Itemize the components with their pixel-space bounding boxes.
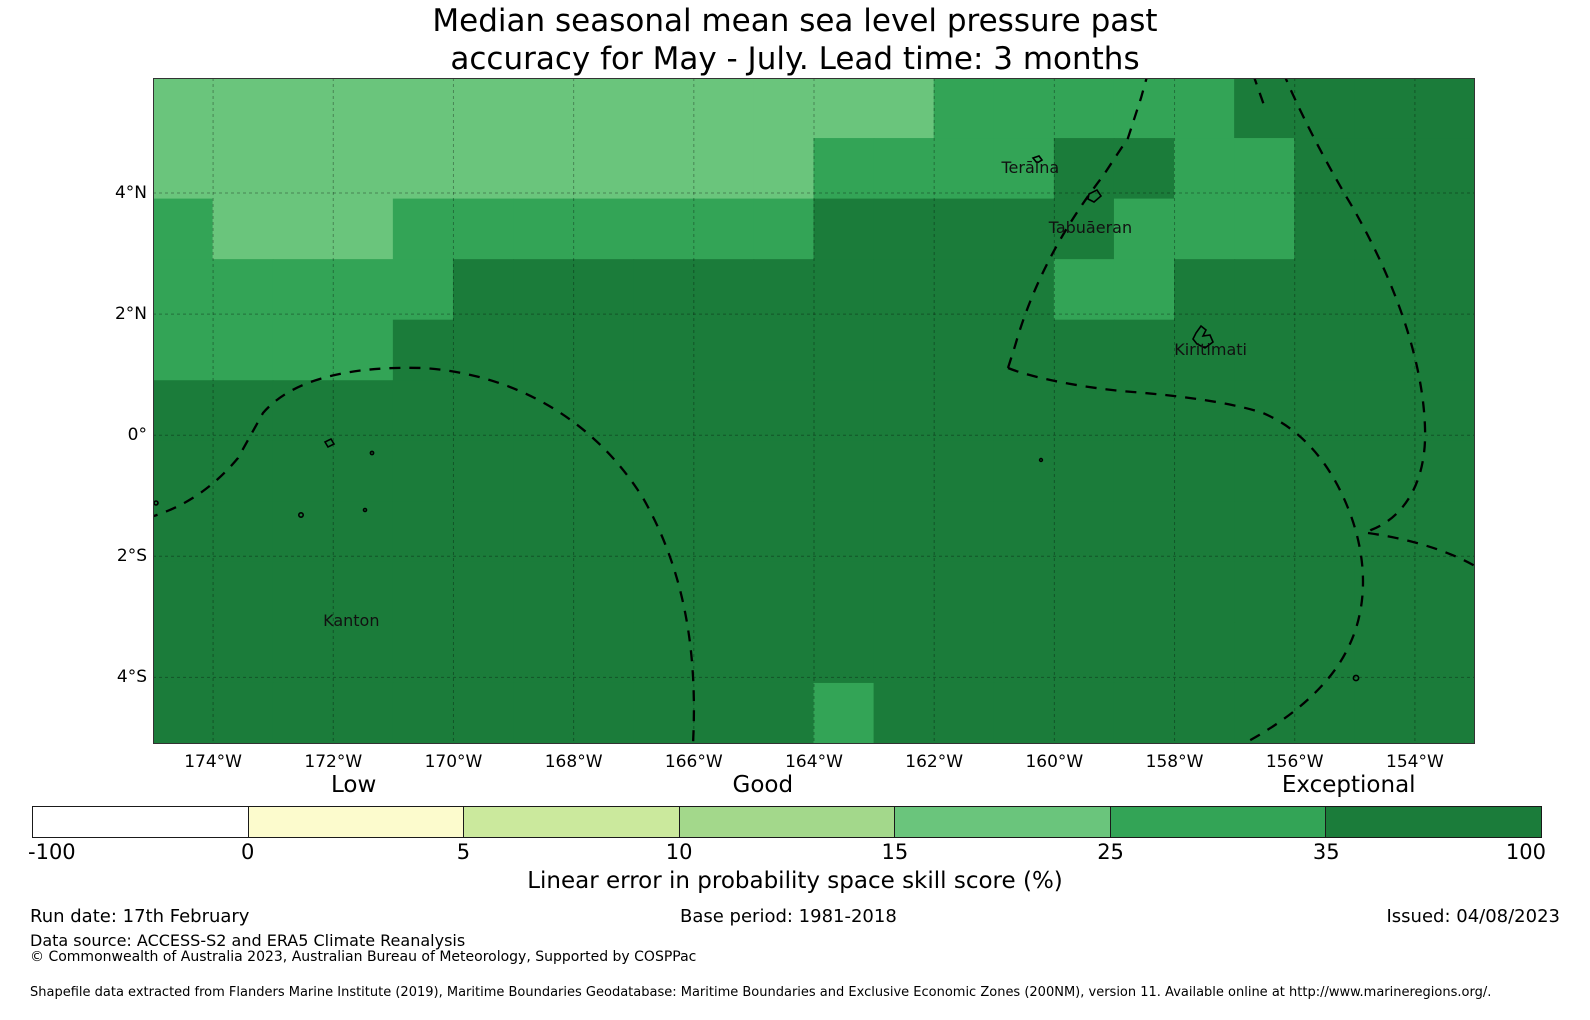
place-label-tabuaeran: Tabuāeran: [1049, 218, 1132, 237]
place-label-kanton: Kanton: [323, 611, 379, 630]
colorbar-segment: [249, 807, 465, 837]
colorbar-axis-label: Linear error in probability space skill …: [0, 868, 1590, 894]
colorbar-segment: [1111, 807, 1327, 837]
eez-boundary-lines: [153, 78, 1475, 744]
x-tick-label: 164°W: [785, 752, 843, 772]
x-tick-label: 162°W: [905, 752, 963, 772]
y-tick-label: 4°N: [77, 183, 147, 203]
data-source: Data source: ACCESS-S2 and ERA5 Climate …: [30, 931, 465, 950]
colorbar-category-exceptional: Exceptional: [1282, 772, 1416, 798]
colorbar-tick-labels: -1000510152535100: [0, 840, 1590, 866]
colorbar: [32, 806, 1542, 838]
page-title: Median seasonal mean sea level pressure …: [0, 2, 1590, 78]
colorbar-category-labels: LowGoodExceptional: [0, 772, 1590, 802]
base-period: Base period: 1981-2018: [680, 906, 897, 927]
colorbar-tick: 5: [457, 840, 470, 864]
colorbar-segment: [895, 807, 1111, 837]
x-tick-label: 168°W: [545, 752, 603, 772]
colorbar-segment: [33, 807, 249, 837]
x-tick-label: 174°W: [184, 752, 242, 772]
x-tick-label: 160°W: [1025, 752, 1083, 772]
x-tick-label: 172°W: [304, 752, 362, 772]
x-tick-label: 156°W: [1266, 752, 1324, 772]
copyright-notice: © Commonwealth of Australia 2023, Austra…: [30, 949, 696, 965]
colorbar-tick: 35: [1313, 840, 1340, 864]
place-label-kiritimati: Kiritimati: [1174, 340, 1247, 359]
issued-date: Issued: 04/08/2023: [1386, 906, 1560, 927]
run-date: Run date: 17th February: [30, 906, 249, 927]
colorbar-tick: -100: [28, 840, 76, 864]
y-tick-label: 2°N: [77, 304, 147, 324]
colorbar-tick: 0: [241, 840, 254, 864]
colorbar-segment: [680, 807, 896, 837]
x-tick-label: 166°W: [665, 752, 723, 772]
footer-top-row: Run date: 17th February Base period: 198…: [0, 906, 1590, 932]
map-plot-area: TerāinaTabuāeranKiritimatiKanton: [153, 78, 1475, 744]
y-tick-label: 4°S: [77, 667, 147, 687]
colorbar-segment: [464, 807, 680, 837]
y-tick-label: 2°S: [77, 546, 147, 566]
colorbar-tick: 10: [666, 840, 693, 864]
colorbar-tick: 25: [1097, 840, 1124, 864]
colorbar-category-low: Low: [331, 772, 376, 798]
colorbar-tick: 100: [1506, 840, 1546, 864]
shapefile-note: Shapefile data extracted from Flanders M…: [30, 985, 1491, 1000]
x-tick-label: 154°W: [1386, 752, 1444, 772]
place-label-teraina: Terāina: [1001, 158, 1059, 177]
colorbar-tick: 15: [881, 840, 908, 864]
colorbar-category-good: Good: [733, 772, 794, 798]
y-axis: 4°N2°N0°2°S4°S: [73, 78, 147, 744]
y-tick-label: 0°: [77, 425, 147, 445]
x-tick-label: 158°W: [1146, 752, 1204, 772]
colorbar-segment: [1326, 807, 1541, 837]
x-tick-label: 170°W: [425, 752, 483, 772]
